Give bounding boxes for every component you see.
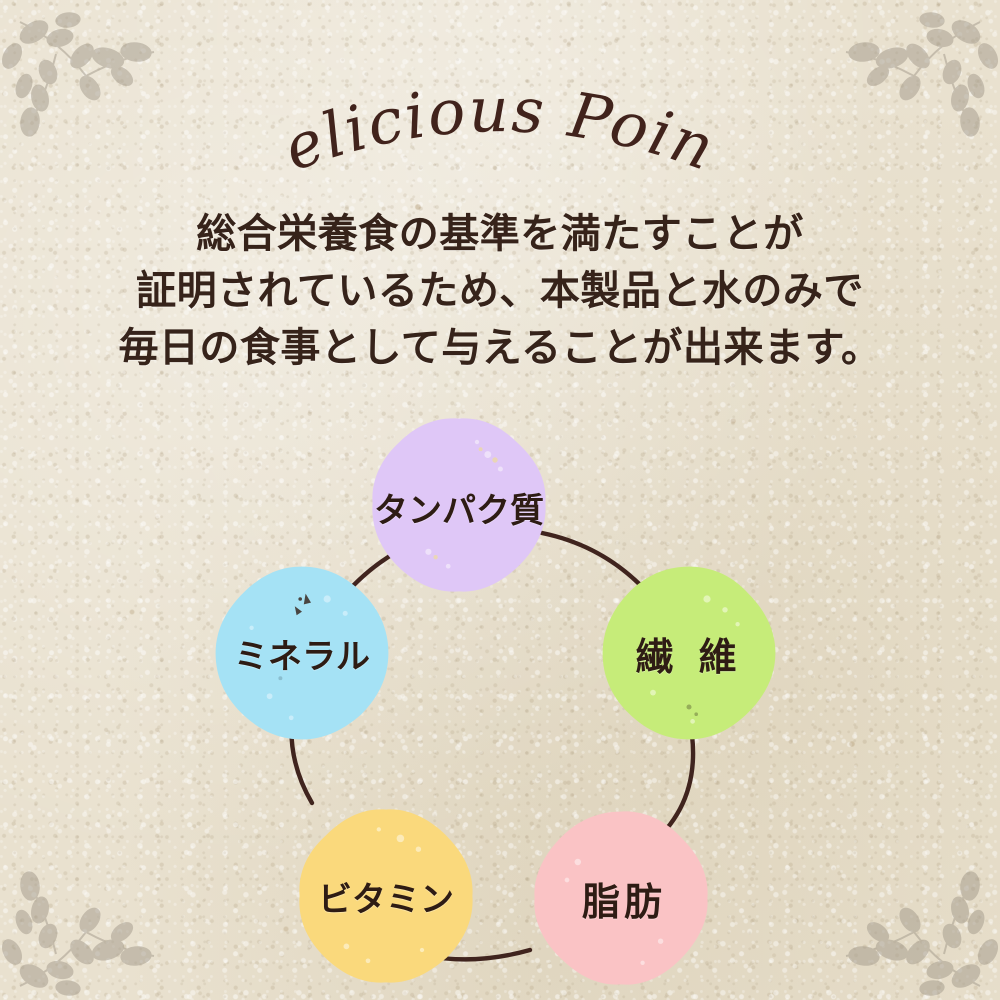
nutrient-label-mineral: ミネラル <box>234 629 370 678</box>
nutrient-cycle-diagram: タンパク質 繊 維 <box>200 415 800 1000</box>
page-title-text: Delicious Points <box>0 0 725 185</box>
poster-canvas: Delicious Points 総合栄養食の基準を満たすことが 証明されている… <box>0 0 1000 1000</box>
nutrient-node-fiber[interactable]: 繊 維 <box>599 563 779 743</box>
description-line-1: 総合栄養食の基準を満たすことが <box>0 206 1000 263</box>
nutrient-node-protein[interactable]: タンパク質 <box>369 415 549 595</box>
page-title: Delicious Points <box>0 58 1000 188</box>
corner-ornament-bottom-right <box>810 814 1000 1000</box>
nutrient-label-fiber: 繊 維 <box>635 626 742 681</box>
nutrient-label-protein: タンパク質 <box>374 483 544 532</box>
corner-ornament-bottom-left <box>0 814 190 1000</box>
nutrient-node-mineral[interactable]: ミネラル <box>212 563 392 743</box>
nutrient-label-fat: 脂肪 <box>582 871 666 926</box>
description-line-3: 毎日の食事として与えることが出来ます。 <box>0 320 1000 377</box>
nutrient-node-vitamin[interactable]: ビタミン <box>296 806 476 986</box>
description-line-2: 証明されているため、本製品と水のみで <box>0 263 1000 320</box>
description-block: 総合栄養食の基準を満たすことが 証明されているため、本製品と水のみで 毎日の食事… <box>0 206 1000 377</box>
nutrient-label-vitamin: ビタミン <box>318 872 454 921</box>
nutrient-node-fat[interactable]: 脂肪 <box>531 808 711 988</box>
